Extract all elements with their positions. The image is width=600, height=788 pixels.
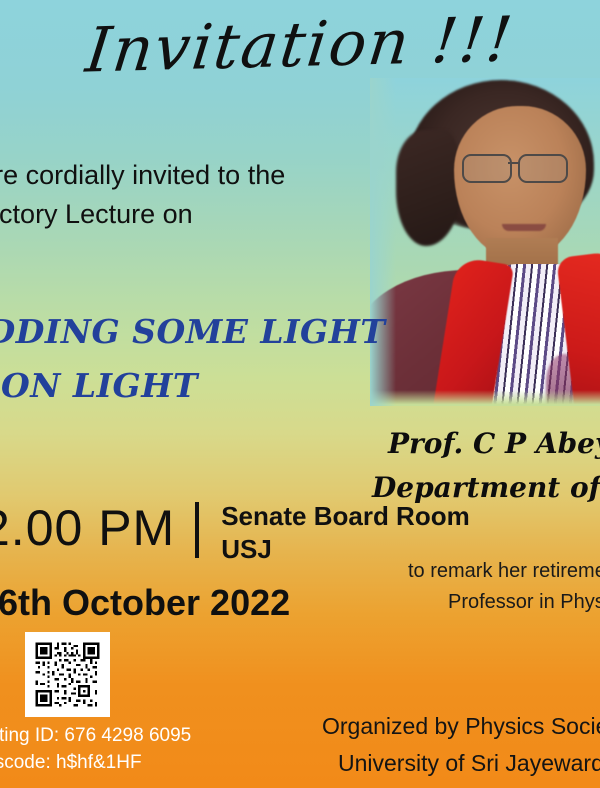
zoom-passcode: Passcode: h$hf&1HF	[0, 749, 191, 776]
organizer-line-2: University of Sri Jayewardenepura	[322, 745, 600, 782]
mouth-shape	[502, 224, 546, 231]
glasses-right-lens	[518, 154, 568, 183]
event-time: 2.00 PM	[0, 500, 175, 556]
speaker-block: Prof. C P Abeygunawardana Department of …	[388, 422, 600, 510]
qr-code[interactable]	[25, 632, 110, 717]
glasses-icon	[460, 154, 584, 180]
poster-headline: Invitation !!!	[0, 0, 600, 89]
vertical-divider	[195, 502, 199, 558]
qr-code-graphic	[33, 640, 102, 709]
zoom-meeting-id: Meeting ID: 676 4298 6095	[0, 722, 191, 749]
time-venue-block: 2.00 PM Senate Board Room USJ	[0, 500, 470, 566]
zoom-credentials: Meeting ID: 676 4298 6095 Passcode: h$hf…	[0, 722, 191, 776]
invitation-intro: You are cordially invited to the Valedic…	[0, 156, 285, 234]
speaker-photo	[370, 78, 600, 406]
event-venue: Senate Board Room USJ	[221, 500, 470, 566]
invitation-poster: Invitation !!! You are cordially invited…	[0, 0, 600, 788]
glasses-left-lens	[462, 154, 512, 183]
lecture-title-line-2: ON LIGHT	[0, 359, 385, 413]
intro-line-2: Valedictory Lecture on	[0, 195, 285, 234]
event-date: 26th October 2022	[0, 582, 290, 624]
venue-line-2: USJ	[221, 533, 470, 566]
venue-line-1: Senate Board Room	[221, 500, 470, 533]
glasses-bridge	[508, 162, 520, 164]
lecture-title-line-1: SHEDDING SOME LIGHT	[0, 312, 385, 351]
organizer-line-1: Organized by Physics Society	[322, 713, 600, 739]
speaker-portrait-illustration	[370, 78, 600, 406]
speaker-name: Prof. C P Abeygunawardana	[388, 427, 600, 460]
intro-line-1: You are cordially invited to the	[0, 156, 285, 195]
organizer-block: Organized by Physics Society University …	[322, 708, 600, 782]
remark-line-2: Professor in Physics	[408, 587, 600, 618]
lecture-title: SHEDDING SOME LIGHT ON LIGHT	[0, 305, 385, 413]
photo-bottom-fade	[370, 390, 600, 406]
